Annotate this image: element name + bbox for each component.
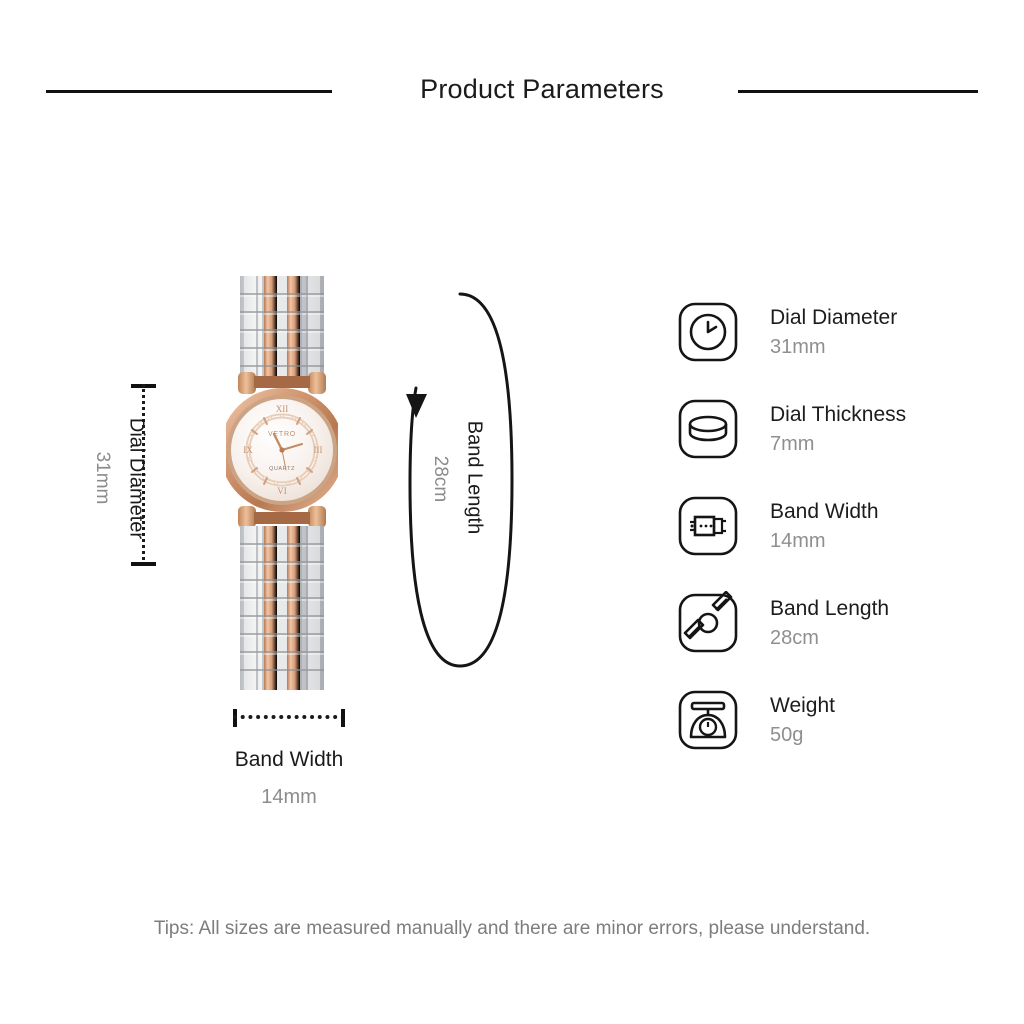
spec-row-weight: Weight 50g (676, 688, 1006, 752)
horizontal-dimension-line-icon (233, 706, 345, 728)
watch-dial-icon (676, 300, 740, 364)
spec-value: 7mm (770, 434, 906, 454)
spec-label: Dial Thickness (770, 404, 906, 425)
spec-row-dial-thickness: Dial Thickness 7mm (676, 397, 1006, 461)
dial-diameter-dimension-label: Dial Diameter (125, 389, 148, 569)
tips-note: Tips: All sizes are measured manually an… (0, 918, 1024, 940)
dimension-cap-right (341, 709, 345, 727)
watch-brand-text: VETRO (268, 431, 296, 438)
dial-diameter-dimension-value: 31mm (91, 388, 113, 568)
watch-strap-icon (676, 591, 740, 655)
spec-row-dial-diameter: Dial Diameter 31mm (676, 300, 1006, 364)
spec-value: 31mm (770, 337, 897, 357)
spec-label: Weight (770, 695, 835, 716)
header-rule-left (46, 90, 332, 93)
svg-text:VI: VI (277, 486, 287, 496)
band-length-dimension-value: 28cm (429, 389, 451, 569)
page-header: Product Parameters (0, 62, 1024, 120)
disc-thickness-icon (676, 397, 740, 461)
spec-value: 50g (770, 725, 835, 745)
spec-text-band-width: Band Width 14mm (770, 501, 879, 551)
spec-text-weight: Weight 50g (770, 695, 835, 745)
spec-label: Dial Diameter (770, 307, 897, 328)
watch-bracelet-lower (240, 526, 324, 690)
dial-diameter-dimension: Dial Diameter 31mm (60, 384, 170, 566)
header-rule-right (738, 90, 978, 93)
svg-text:IX: IX (243, 445, 253, 455)
spec-text-band-length: Band Length 28cm (770, 598, 889, 648)
spec-text-dial-thickness: Dial Thickness 7mm (770, 404, 906, 454)
spec-row-band-width: Band Width 14mm (676, 494, 1006, 558)
watch-case: XII III VI IX VETRO QUARTZ (226, 388, 338, 512)
spec-label: Band Width (770, 501, 879, 522)
dimension-dashes (233, 715, 345, 719)
band-length-dimension: Band Length 28cm (398, 284, 528, 676)
band-width-dimension-label: Band Width (194, 748, 384, 772)
specifications-list: Dial Diameter 31mm Dial Thickness 7mm (676, 300, 1006, 752)
band-width-dimension: Band Width 14mm (194, 706, 384, 809)
spec-text-dial-diameter: Dial Diameter 31mm (770, 307, 897, 357)
watch-bracelet-upper (240, 276, 324, 376)
band-width-dimension-value: 14mm (194, 786, 384, 809)
buckle-icon (676, 494, 740, 558)
svg-text:XII: XII (276, 404, 289, 414)
watch-product-image: XII III VI IX VETRO QUARTZ (226, 272, 338, 692)
svg-text:III: III (314, 445, 323, 455)
scale-icon (676, 688, 740, 752)
band-length-dimension-label: Band Length (463, 388, 486, 568)
spec-row-band-length: Band Length 28cm (676, 591, 1006, 655)
spec-value: 14mm (770, 531, 879, 551)
spec-value: 28cm (770, 628, 889, 648)
page-title: Product Parameters (332, 74, 738, 105)
watch-quartz-text: QUARTZ (269, 466, 295, 472)
spec-label: Band Length (770, 598, 889, 619)
